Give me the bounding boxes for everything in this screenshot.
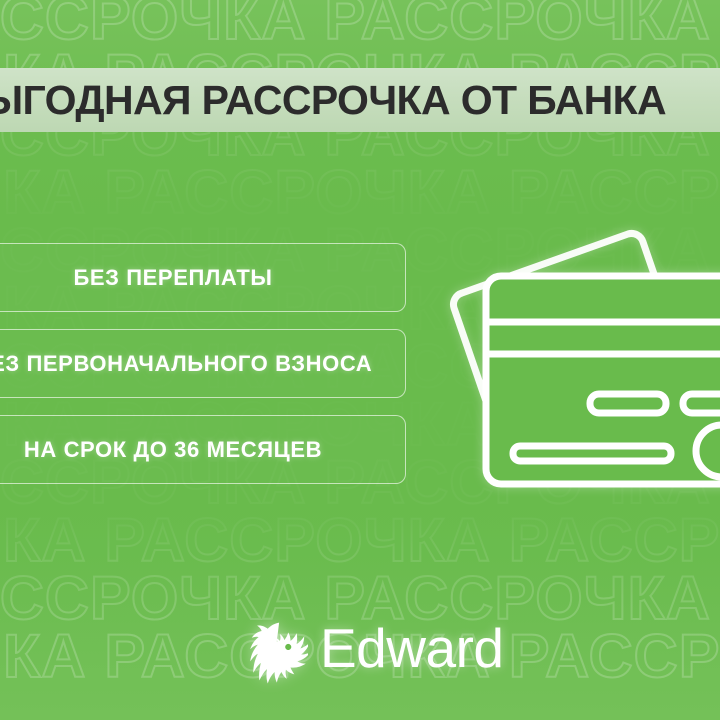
lion-head-glyph bbox=[232, 612, 308, 688]
feature-label: НА СРОК ДО 36 МЕСЯЦЕВ bbox=[24, 437, 322, 463]
promo-banner: РАССРОЧКА РАССРОЧКА РАССРОЧКА РАССРОЧКА … bbox=[0, 0, 720, 720]
feature-item-term-36-months[interactable]: НА СРОК ДО 36 МЕСЯЦЕВ bbox=[0, 415, 406, 484]
brand-logo[interactable]: Edward bbox=[232, 612, 503, 688]
feature-label: БЕЗ ПЕРВОНАЧАЛЬНОГО ВЗНОСА bbox=[0, 351, 372, 377]
lion-head-icon bbox=[232, 612, 308, 688]
feature-item-no-downpayment[interactable]: БЕЗ ПЕРВОНАЧАЛЬНОГО ВЗНОСА bbox=[0, 329, 406, 398]
feature-list: БЕЗ ПЕРЕПЛАТЫ БЕЗ ПЕРВОНАЧАЛЬНОГО ВЗНОСА… bbox=[0, 243, 406, 484]
headline-text: ВЫГОДНАЯ РАССРОЧКА ОТ БАНКА bbox=[0, 72, 720, 128]
pattern-row: РАССРОЧКА РАССРОЧКА РАССРОЧКА РАССРОЧКА bbox=[0, 510, 720, 571]
feature-item-no-overpayment[interactable]: БЕЗ ПЕРЕПЛАТЫ bbox=[0, 243, 406, 312]
feature-label: БЕЗ ПЕРЕПЛАТЫ bbox=[73, 265, 272, 291]
brand-name: Edward bbox=[320, 621, 503, 680]
pattern-row: РАССРОЧКА РАССРОЧКА РАССРОЧКА РАССРОЧКА bbox=[0, 162, 720, 223]
